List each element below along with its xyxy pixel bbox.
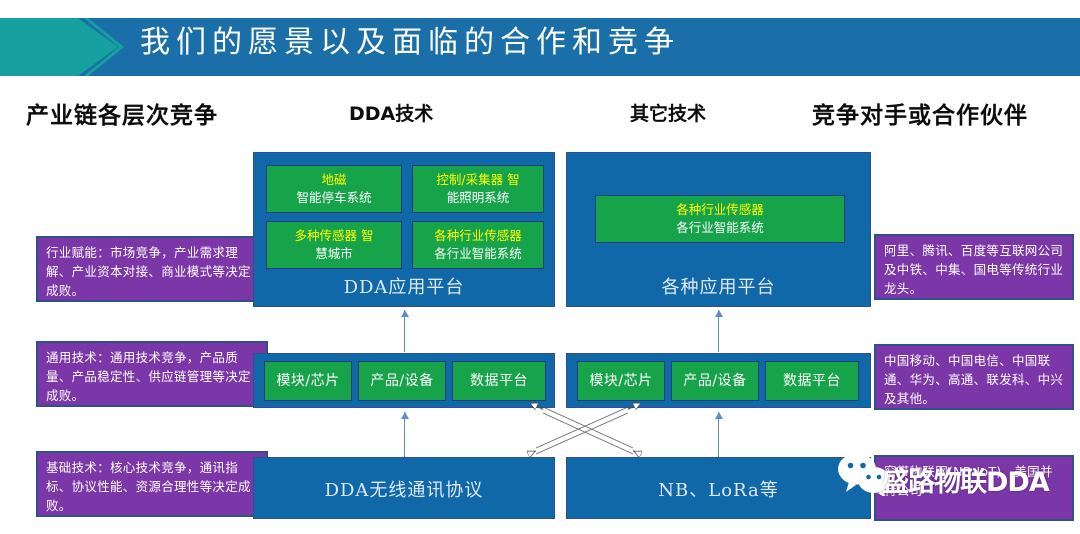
green-box-line2: 各行业智能系统: [413, 245, 543, 263]
column-header-competitors: 竞争对手或合作伙伴: [812, 96, 1028, 130]
green-box-other-industry-sensors: 各种行业传感器 各行业智能系统: [595, 195, 845, 243]
chip-other-data-platform: 数据平台: [765, 361, 859, 401]
panel-dda-general-technology: 模块/芯片 产品/设备 数据平台: [253, 353, 555, 408]
column-header-value-chain: 产业链各层次竞争: [26, 96, 218, 130]
green-box-line2: 各行业智能系统: [596, 219, 844, 237]
green-box-line2: 慧城市: [267, 245, 401, 263]
chevron-shape: [0, 18, 118, 76]
green-box-controller-lighting: 控制/采集器 智 能照明系统: [412, 165, 544, 213]
panel-caption-other-network: NB、LoRa等: [567, 476, 870, 502]
note-rivals-protocols: 窄带物联网(NB-IoT)、美国并特公司: [874, 455, 1074, 521]
arrow-up-dda-proto-to-mid: [404, 412, 405, 457]
arrow-up-other-mid-to-platform: [718, 310, 719, 352]
note-industry-enablement: 行业赋能：市场竞争，产业需求理解、产业资本对接、商业模式等决定成败。: [36, 236, 268, 302]
note-rivals-carriers: 中国移动、中国电信、中国联通、华为、高通、联发科、中兴及其他。: [874, 344, 1074, 410]
slide-title: 我们的愿景以及面临的合作和竞争: [140, 20, 1040, 66]
green-box-industry-sensors: 各种行业传感器 各行业智能系统: [412, 221, 544, 269]
chip-dda-module: 模块/芯片: [264, 361, 352, 401]
chip-other-module: 模块/芯片: [577, 361, 665, 401]
green-box-line1: 控制/采集器 智: [413, 171, 543, 189]
chip-other-product: 产品/设备: [671, 361, 759, 401]
title-banner: 我们的愿景以及面临的合作和竞争: [0, 18, 1080, 76]
panel-other-general-technology: 模块/芯片 产品/设备 数据平台: [566, 353, 871, 408]
note-rivals-internet: 阿里、腾讯、百度等互联网公司及中铁、中集、国电等传统行业龙头。: [874, 234, 1074, 300]
arrow-up-dda-mid-to-platform: [404, 310, 405, 352]
note-general-technology: 通用技术：通用技术竞争，产品质量、产品稳定性、供应链管理等决定成败。: [36, 341, 268, 407]
green-box-multi-sensor-smart-city: 多种传感器 智 慧城市: [266, 221, 402, 269]
panel-dda-application-platform: 地磁 智能停车系统 控制/采集器 智 能照明系统 多种传感器 智 慧城市 各种行…: [253, 152, 555, 307]
green-box-line2: 智能停车系统: [267, 189, 401, 207]
green-box-line1: 各种行业传感器: [413, 227, 543, 245]
panel-caption-dda-platform: DDA应用平台: [254, 273, 554, 299]
column-header-dda-tech: DDA技术: [349, 99, 433, 126]
panel-other-application-platform: 各种行业传感器 各行业智能系统 各种应用平台: [566, 152, 871, 307]
column-header-other-tech: 其它技术: [630, 99, 706, 126]
green-box-line1: 地磁: [267, 171, 401, 189]
arrow-up-other-proto-to-mid: [718, 412, 719, 457]
panel-caption-dda-protocol: DDA无线通讯协议: [254, 476, 554, 502]
chip-dda-product: 产品/设备: [358, 361, 446, 401]
green-box-geomagnetic-parking: 地磁 智能停车系统: [266, 165, 402, 213]
panel-caption-other-platform: 各种应用平台: [567, 273, 870, 299]
green-box-line2: 能照明系统: [413, 189, 543, 207]
green-box-line1: 多种传感器 智: [267, 227, 401, 245]
green-box-line1: 各种行业传感器: [596, 201, 844, 219]
note-core-technology: 基础技术：核心技术竞争，通讯指标、协议性能、资源合理性等决定成败。: [36, 451, 268, 517]
chip-dda-data-platform: 数据平台: [452, 361, 546, 401]
panel-other-network-protocol: NB、LoRa等: [566, 457, 871, 519]
panel-dda-wireless-protocol: DDA无线通讯协议: [253, 457, 555, 519]
